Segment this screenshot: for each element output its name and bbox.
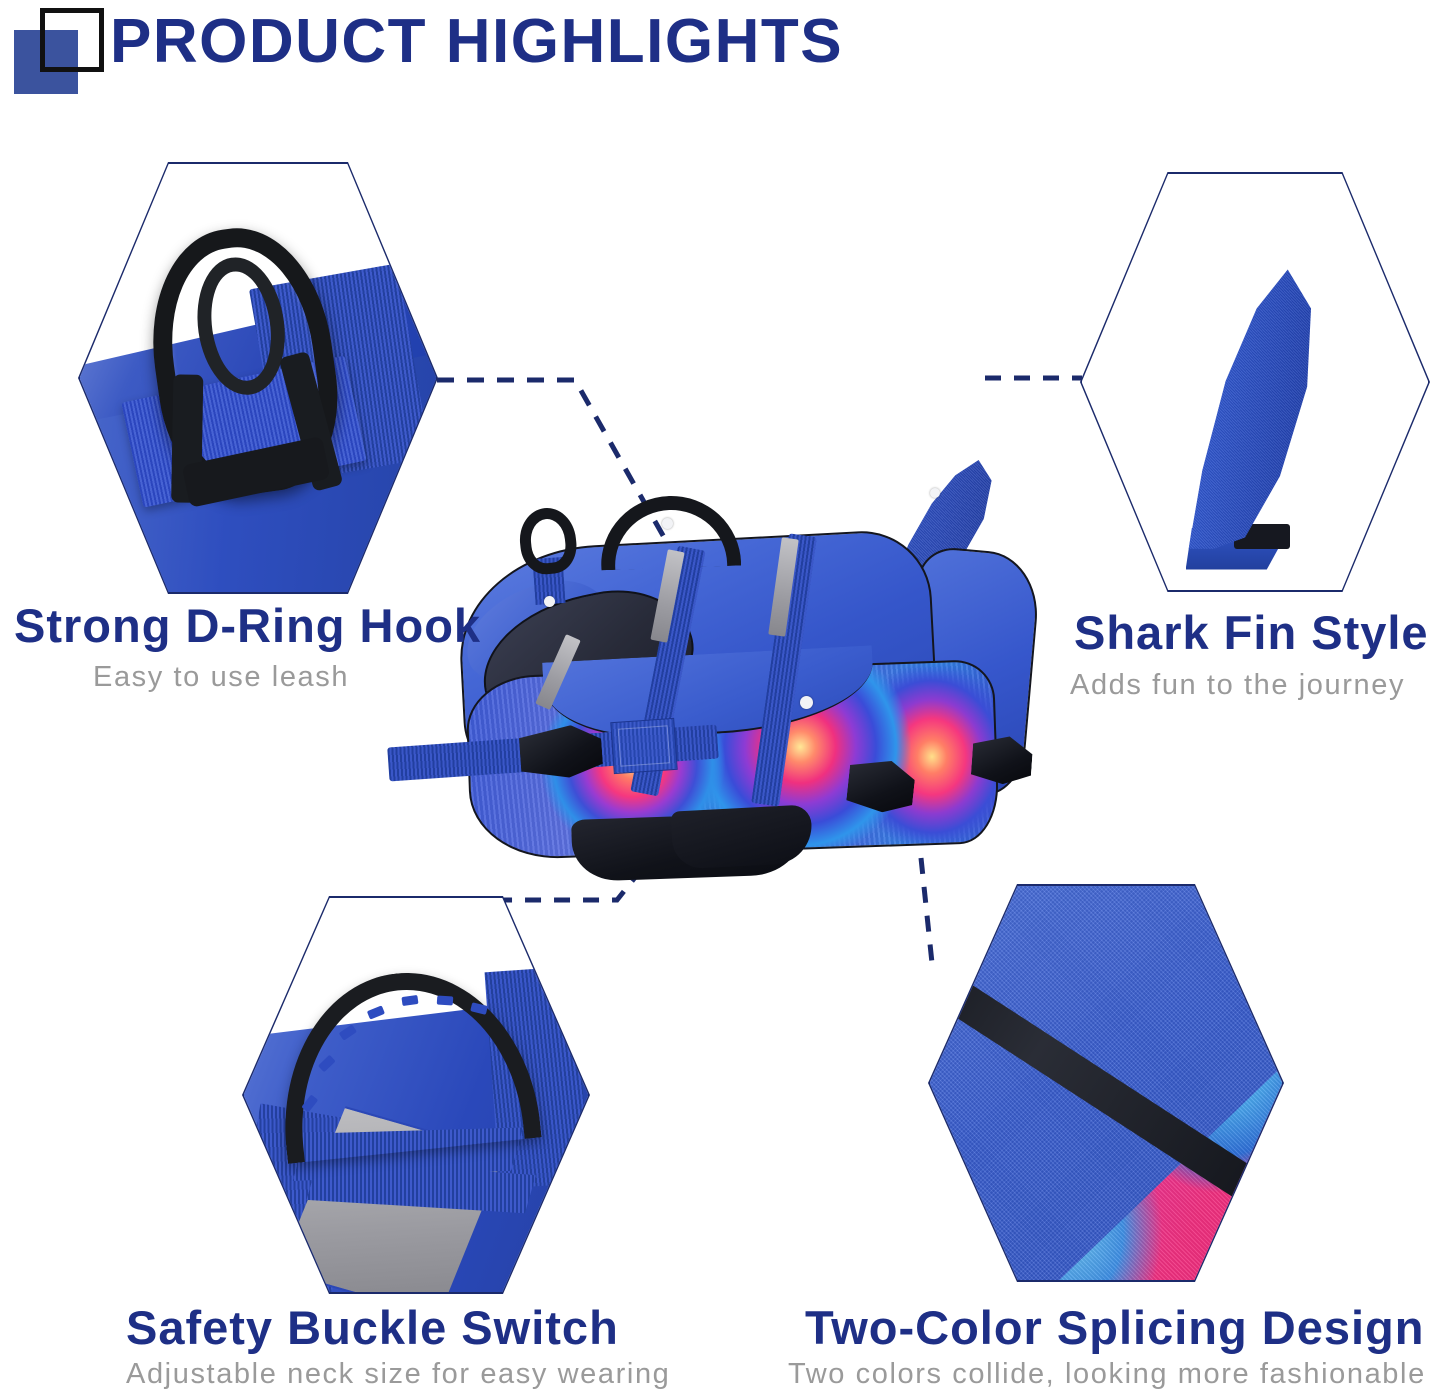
- overlapping-squares-logo-icon: [14, 8, 106, 94]
- product-grommet-4: [930, 488, 940, 498]
- product-velcro-patch: [610, 718, 677, 774]
- feature-title-safety-buckle: Safety Buckle Switch: [126, 1300, 619, 1355]
- feature-subtitle-d-ring: Easy to use leash: [93, 661, 349, 694]
- hexagon-handle-buckle-inner: [244, 898, 589, 1293]
- hexagon-two-color-splice-photo: [928, 884, 1284, 1282]
- feature-title-two-color: Two-Color Splicing Design: [805, 1300, 1424, 1355]
- feature-subtitle-shark-fin: Adds fun to the journey: [1070, 669, 1405, 702]
- hexagon-two-color-splice-inner: [930, 886, 1283, 1281]
- hexagon-handle-buckle-photo: [242, 896, 590, 1294]
- hexagon-shark-fin-photo: [1080, 172, 1430, 592]
- hexagon-shark-fin-inner: [1082, 174, 1429, 591]
- feature-title-d-ring: Strong D-Ring Hook: [14, 598, 481, 653]
- feature-subtitle-two-color: Two colors collide, looking more fashion…: [788, 1358, 1426, 1391]
- header: PRODUCT HIGHLIGHTS: [0, 0, 1445, 100]
- feature-subtitle-safety-buckle: Adjustable neck size for easy wearing: [126, 1358, 670, 1391]
- product-image-dog-life-jacket: [372, 468, 1082, 918]
- logo-outlined-square: [40, 8, 104, 72]
- product-grommet-3: [800, 696, 813, 709]
- shark-fin-shape: [1144, 269, 1338, 548]
- product-top-handle: [599, 494, 741, 571]
- page-title: PRODUCT HIGHLIGHTS: [110, 6, 843, 77]
- d-ring-hardware-icon: [137, 217, 351, 505]
- feature-title-shark-fin: Shark Fin Style: [1074, 605, 1429, 660]
- product-grommet-1: [544, 596, 555, 607]
- infographic-canvas: PRODUCT HIGHLIGHTS: [0, 0, 1445, 1394]
- product-grommet-2: [662, 518, 673, 529]
- product-belly-black-panel-2: [671, 804, 814, 869]
